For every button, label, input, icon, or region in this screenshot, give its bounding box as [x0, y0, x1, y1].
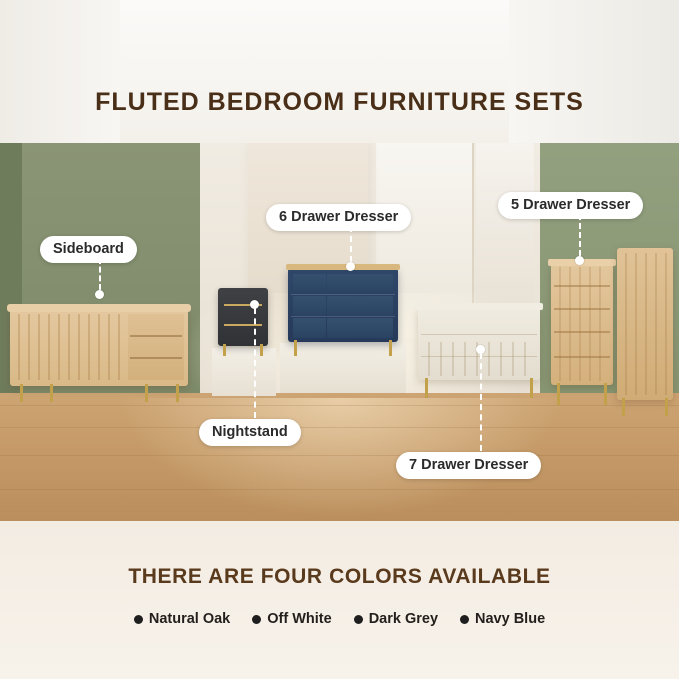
callout-7-drawer-leader [480, 353, 482, 451]
callout-6-drawer-leader [350, 226, 352, 262]
header-gradient-left [0, 0, 120, 143]
tall-dresser-body [551, 263, 613, 385]
callout-nightstand: Nightstand [199, 419, 301, 446]
furniture-wardrobe [617, 248, 673, 418]
furniture-6-drawer-dresser [288, 268, 398, 388]
color-options-list: Natural Oak Off White Dark Grey Navy Blu… [0, 611, 679, 627]
color-option-label: Natural Oak [149, 611, 230, 627]
color-option-navy-blue: Navy Blue [460, 611, 545, 627]
nightstand-body [218, 288, 268, 346]
footer-title: THERE ARE FOUR COLORS AVAILABLE [0, 565, 679, 589]
header-gradient-right [509, 0, 679, 143]
callout-5-drawer-dot [575, 256, 584, 265]
color-option-natural-oak: Natural Oak [134, 611, 230, 627]
furniture-5-drawer-dresser [551, 263, 613, 413]
callout-6-drawer-dresser: 6 Drawer Dresser [266, 204, 411, 231]
callout-5-drawer-dresser: 5 Drawer Dresser [498, 192, 643, 219]
page-title: FLUTED BEDROOM FURNITURE SETS [0, 88, 679, 117]
bullet-icon [354, 615, 363, 624]
floor-plank-line [0, 455, 679, 456]
white-dresser-top [415, 303, 543, 310]
footer-band [0, 521, 679, 679]
furniture-sideboard [10, 308, 188, 403]
white-dresser-body [418, 308, 540, 380]
callout-sideboard-dot [95, 290, 104, 299]
bullet-icon [252, 615, 261, 624]
callout-5-drawer-leader [579, 214, 581, 256]
bullet-icon [460, 615, 469, 624]
callout-sideboard-leader [99, 258, 101, 290]
color-option-label: Off White [267, 611, 331, 627]
navy-dresser-body [288, 268, 398, 342]
color-option-off-white: Off White [252, 611, 331, 627]
window-light-secondary [476, 143, 534, 313]
callout-7-drawer-dresser: 7 Drawer Dresser [396, 452, 541, 479]
floor-plank-line [0, 489, 679, 490]
navy-dresser-top [286, 264, 400, 270]
navy-pedestal [280, 343, 406, 393]
callout-6-drawer-dot [346, 262, 355, 271]
nightstand-pedestal [212, 348, 276, 396]
color-option-label: Dark Grey [369, 611, 438, 627]
furniture-7-drawer-dresser [418, 308, 540, 408]
sideboard-top [7, 304, 191, 312]
furniture-nightstand [218, 288, 268, 388]
wardrobe-body [617, 248, 673, 400]
callout-nightstand-leader [254, 308, 256, 418]
callout-sideboard: Sideboard [40, 236, 137, 263]
color-option-dark-grey: Dark Grey [354, 611, 438, 627]
bullet-icon [134, 615, 143, 624]
header-band [0, 0, 679, 143]
sideboard-drawers [128, 314, 184, 380]
floor-plank-line [0, 427, 679, 428]
color-option-label: Navy Blue [475, 611, 545, 627]
promo-image: FLUTED BEDROOM FURNITURE SETS [0, 0, 679, 679]
